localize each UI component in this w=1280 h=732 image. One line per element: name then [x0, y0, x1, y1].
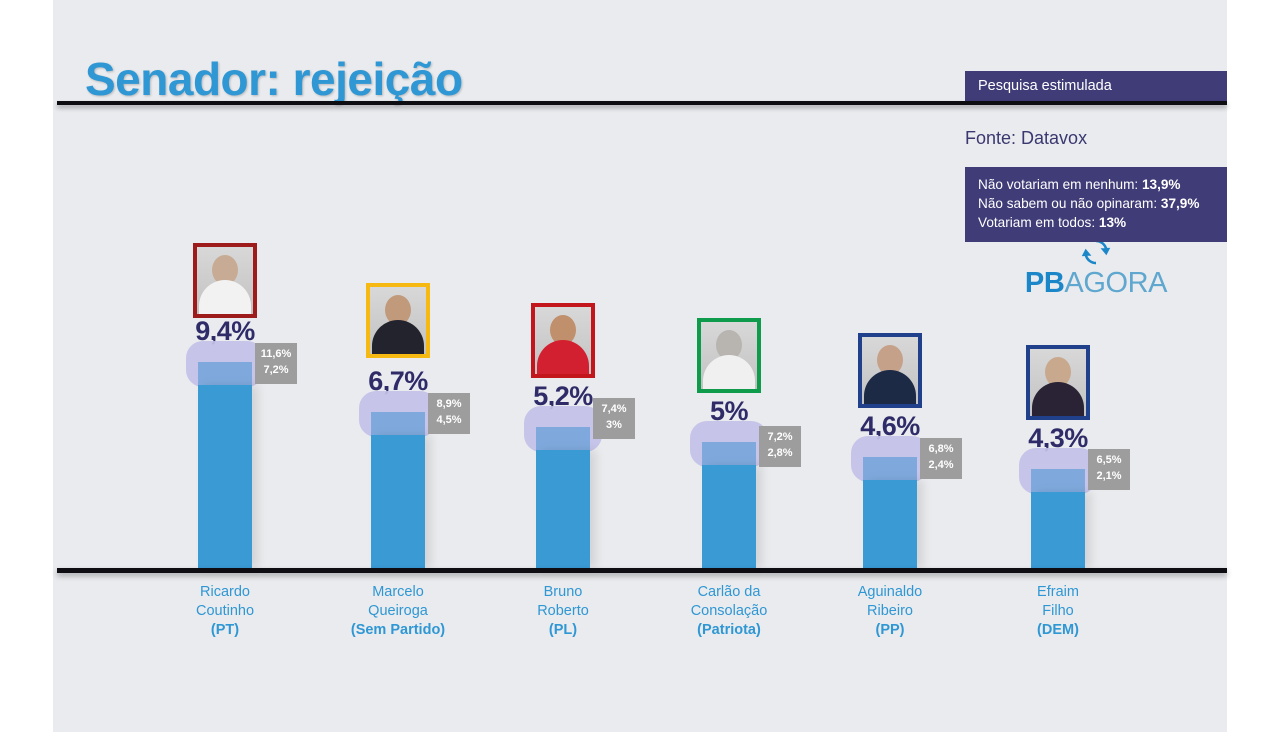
confidence-interval-box: 6,8% 2,4%: [920, 438, 962, 479]
info-row-value: 13,9%: [1142, 177, 1181, 192]
chart-baseline-axis: [57, 568, 1227, 573]
bar-group: 6,7% 8,9% 4,5% Marcelo Queiroga (Sem Par…: [318, 0, 478, 732]
bar-body: [702, 465, 756, 568]
candidate-photo: [858, 333, 922, 408]
ci-upper-value: 7,2%: [759, 430, 801, 446]
bar-group: 5,2% 7,4% 3% Bruno Roberto (PL): [483, 0, 643, 732]
bar-group: 4,6% 6,8% 2,4% Aguinaldo Ribeiro (PP): [810, 0, 970, 732]
slide-canvas: Senador: rejeição Pesquisa estimulada Fo…: [53, 0, 1227, 732]
bar-category-label: Bruno Roberto (PL): [483, 583, 643, 640]
info-row-value: 37,9%: [1161, 196, 1200, 211]
candidate-party: (Patriota): [649, 621, 809, 640]
bar-band: [702, 442, 756, 465]
bar-body: [1031, 492, 1085, 568]
page-title: Senador: rejeição: [85, 52, 463, 106]
candidate-name-line2: Queiroga: [318, 602, 478, 621]
candidate-photo: [531, 303, 595, 378]
candidate-name-line2: Ribeiro: [810, 602, 970, 621]
bar-category-label: Ricardo Coutinho (PT): [145, 583, 305, 640]
info-row-label: Não sabem ou não opinaram:: [978, 196, 1157, 211]
ci-lower-value: 2,1%: [1088, 469, 1130, 485]
candidate-party: (PP): [810, 621, 970, 640]
bar-band: [1031, 469, 1085, 492]
candidate-name-line1: Carlão da: [649, 583, 809, 602]
ci-lower-value: 7,2%: [255, 363, 297, 379]
candidate-party: (DEM): [978, 621, 1138, 640]
candidate-photo: [697, 318, 761, 393]
bar-group: 5% 7,2% 2,8% Carlão da Consolação (Patri…: [649, 0, 809, 732]
confidence-interval-box: 7,2% 2,8%: [759, 426, 801, 467]
bar-group: 9,4% 11,6% 7,2% Ricardo Coutinho (PT): [145, 0, 305, 732]
bar-category-label: Marcelo Queiroga (Sem Partido): [318, 583, 478, 640]
bar-body: [863, 480, 917, 568]
candidate-photo: [193, 243, 257, 318]
bar-body: [198, 385, 252, 568]
candidate-photo: [366, 283, 430, 358]
info-row: Não sabem ou não opinaram: 37,9%: [978, 195, 1227, 214]
bar-category-label: Efraim Filho (DEM): [978, 583, 1138, 640]
info-row-label: Votariam em todos:: [978, 215, 1095, 230]
confidence-interval-box: 6,5% 2,1%: [1088, 449, 1130, 490]
confidence-interval-box: 11,6% 7,2%: [255, 343, 297, 384]
candidate-photo: [1026, 345, 1090, 420]
info-row-value: 13%: [1099, 215, 1126, 230]
candidate-name-line2: Filho: [978, 602, 1138, 621]
candidate-name-line1: Marcelo: [318, 583, 478, 602]
bar-body: [371, 435, 425, 568]
ci-upper-value: 8,9%: [428, 397, 470, 413]
confidence-interval-box: 7,4% 3%: [593, 398, 635, 439]
bar-band: [371, 412, 425, 435]
ci-lower-value: 2,8%: [759, 446, 801, 462]
ci-upper-value: 7,4%: [593, 402, 635, 418]
candidate-name-line2: Roberto: [483, 602, 643, 621]
summary-info-box: Não votariam em nenhum: 13,9% Não sabem …: [965, 167, 1227, 242]
bar-band: [198, 362, 252, 385]
candidate-name-line1: Aguinaldo: [810, 583, 970, 602]
ci-lower-value: 3%: [593, 418, 635, 434]
candidate-name-line1: Ricardo: [145, 583, 305, 602]
bar-category-label: Carlão da Consolação (Patriota): [649, 583, 809, 640]
candidate-name-line2: Coutinho: [145, 602, 305, 621]
status-badge: Pesquisa estimulada: [965, 71, 1227, 101]
bar-band: [536, 427, 590, 450]
ci-lower-value: 4,5%: [428, 413, 470, 429]
status-badge-label: Pesquisa estimulada: [978, 78, 1112, 94]
bar-body: [536, 450, 590, 568]
candidate-party: (PT): [145, 621, 305, 640]
candidate-party: (PL): [483, 621, 643, 640]
ci-upper-value: 6,5%: [1088, 453, 1130, 469]
candidate-name-line2: Consolação: [649, 602, 809, 621]
candidate-name-line1: Bruno: [483, 583, 643, 602]
ci-upper-value: 11,6%: [255, 347, 297, 363]
candidate-name-line1: Efraim: [978, 583, 1138, 602]
bar-band: [863, 457, 917, 480]
info-row: Não votariam em nenhum: 13,9%: [978, 176, 1227, 195]
candidate-party: (Sem Partido): [318, 621, 478, 640]
bar-group: 4,3% 6,5% 2,1% Efraim Filho (DEM): [978, 0, 1138, 732]
ci-lower-value: 2,4%: [920, 458, 962, 474]
ci-upper-value: 6,8%: [920, 442, 962, 458]
bar-chart-plot: 9,4% 11,6% 7,2% Ricardo Coutinho (PT) 6,…: [53, 0, 1227, 732]
info-row-label: Não votariam em nenhum:: [978, 177, 1138, 192]
info-row: Votariam em todos: 13%: [978, 214, 1227, 233]
bar-category-label: Aguinaldo Ribeiro (PP): [810, 583, 970, 640]
confidence-interval-box: 8,9% 4,5%: [428, 393, 470, 434]
title-divider: [57, 101, 1227, 105]
